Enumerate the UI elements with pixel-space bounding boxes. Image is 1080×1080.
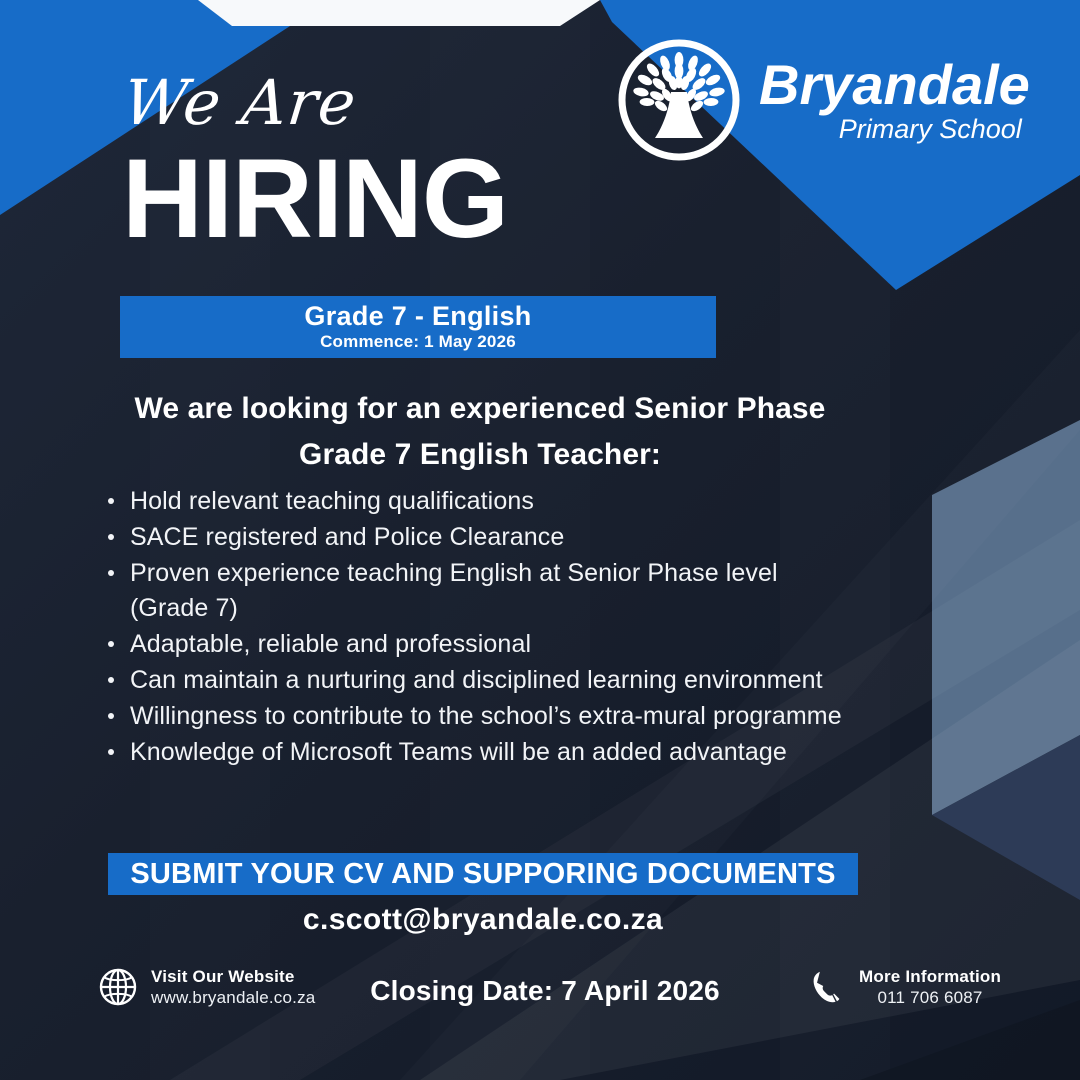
list-item-text: Can maintain a nurturing and disciplined…	[130, 666, 823, 694]
hiring-poster: We Are HIRING	[0, 0, 1080, 1080]
bullet-icon	[108, 570, 114, 576]
phone-contact[interactable]: More Information 011 706 6087	[808, 966, 1001, 1009]
phone-label: More Information	[859, 966, 1001, 987]
position-commence-date: Commence: 1 May 2026	[320, 333, 516, 352]
list-item: Willingness to contribute to the school’…	[104, 699, 844, 734]
page-title: HIRING	[122, 143, 508, 255]
list-item: Knowledge of Microsoft Teams will be an …	[104, 735, 844, 770]
list-item: Adaptable, reliable and professional	[104, 627, 844, 662]
logo-school-subtitle: Primary School	[759, 115, 1030, 145]
bullet-icon	[108, 641, 114, 647]
list-item-text: Hold relevant teaching qualifications	[130, 487, 534, 515]
submit-cv-label: SUBMIT YOUR CV AND SUPPORING DOCUMENTS	[130, 858, 835, 891]
bullet-icon	[108, 749, 114, 755]
submit-cv-banner: SUBMIT YOUR CV AND SUPPORING DOCUMENTS	[108, 853, 858, 895]
eyebrow-we-are: We Are	[121, 72, 360, 134]
intro-line-2: Grade 7 English Teacher:	[60, 432, 900, 478]
logo-school-name: Bryandale	[759, 56, 1030, 113]
contact-email[interactable]: c.scott@bryandale.co.za	[108, 903, 858, 937]
bullet-icon	[108, 677, 114, 683]
list-item: Proven experience teaching English at Se…	[104, 556, 844, 626]
globe-icon	[98, 967, 138, 1007]
list-item: Can maintain a nurturing and disciplined…	[104, 663, 844, 698]
position-title: Grade 7 - English	[304, 302, 531, 330]
website-url[interactable]: www.bryandale.co.za	[151, 987, 315, 1008]
bullet-icon	[108, 498, 114, 504]
website-label: Visit Our Website	[151, 966, 315, 987]
website-contact[interactable]: Visit Our Website www.bryandale.co.za	[98, 966, 315, 1009]
list-item-text: Adaptable, reliable and professional	[130, 630, 531, 658]
list-item-text: SACE registered and Police Clearance	[130, 523, 564, 551]
requirements-list: Hold relevant teaching qualifications SA…	[104, 484, 844, 771]
phone-icon	[808, 968, 846, 1006]
list-item-text: Proven experience teaching English at Se…	[130, 559, 778, 622]
bullet-icon	[108, 713, 114, 719]
bullet-icon	[108, 534, 114, 540]
intro-heading: We are looking for an experienced Senior…	[60, 386, 900, 477]
intro-line-1: We are looking for an experienced Senior…	[60, 386, 900, 432]
school-logo: Bryandale Primary School	[617, 38, 1030, 162]
phone-number[interactable]: 011 706 6087	[877, 987, 982, 1008]
tree-in-circle-logo-icon	[617, 38, 741, 162]
closing-date: Closing Date: 7 April 2026	[330, 975, 760, 1007]
list-item: Hold relevant teaching qualifications	[104, 484, 844, 519]
list-item-text: Knowledge of Microsoft Teams will be an …	[130, 738, 787, 766]
list-item: SACE registered and Police Clearance	[104, 520, 844, 555]
list-item-text: Willingness to contribute to the school’…	[130, 702, 842, 730]
position-banner: Grade 7 - English Commence: 1 May 2026	[120, 296, 716, 358]
